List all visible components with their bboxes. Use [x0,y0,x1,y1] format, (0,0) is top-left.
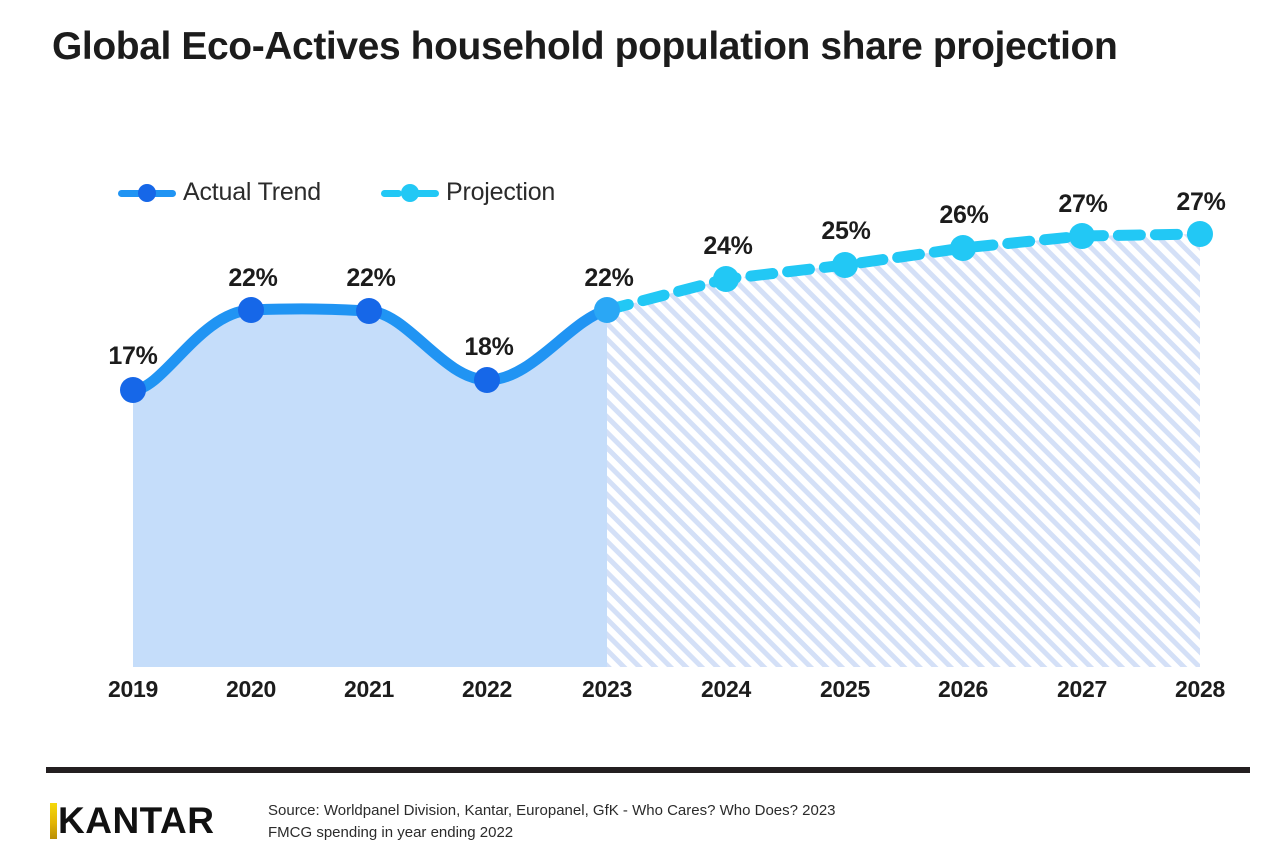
data-label-2027: 27% [1058,190,1107,219]
x-axis-tick-2026: 2026 [938,676,988,703]
x-axis-tick-2020: 2020 [226,676,276,703]
footer: K ANTAR Source: Worldpanel Division, Kan… [0,790,1280,865]
logo-wordmark: ANTAR [85,803,214,839]
chart-legend: Actual Trend Projection [118,178,555,207]
x-axis-tick-2021: 2021 [344,676,394,703]
kantar-logo: K ANTAR [50,800,214,842]
x-axis-tick-2027: 2027 [1057,676,1107,703]
source-note: Source: Worldpanel Division, Kantar, Eur… [268,800,836,844]
data-label-2019: 17% [108,342,157,371]
data-label-2022: 18% [464,333,513,362]
data-label-2028: 27% [1176,188,1225,217]
x-axis-tick-2022: 2022 [462,676,512,703]
line-chart-svg [0,0,1280,780]
data-label-2024: 24% [703,232,752,261]
x-axis-tick-2028: 2028 [1175,676,1225,703]
projection-area-fill [607,234,1200,667]
logo-accent-bar-icon [50,803,57,839]
x-axis-tick-2019: 2019 [108,676,158,703]
x-axis-tick-2023: 2023 [582,676,632,703]
footer-divider [46,767,1250,773]
data-label-2026: 26% [939,201,988,230]
legend-label-actual-trend: Actual Trend [183,178,321,207]
legend-item-projection[interactable]: Projection [381,178,555,207]
x-axis-tick-2024: 2024 [701,676,751,703]
legend-line-marker-icon [118,183,176,203]
legend-dashed-marker-icon [381,183,439,203]
data-label-2020: 22% [228,264,277,293]
chart-plot-area: Actual Trend Projection 17% 22% 22% 18% … [0,0,1280,780]
data-label-2023: 22% [584,264,633,293]
x-axis-tick-2025: 2025 [820,676,870,703]
legend-label-projection: Projection [446,178,555,207]
logo-initial: K [58,803,85,839]
data-label-2021: 22% [346,264,395,293]
data-label-2025: 25% [821,217,870,246]
legend-item-actual-trend[interactable]: Actual Trend [118,178,321,207]
